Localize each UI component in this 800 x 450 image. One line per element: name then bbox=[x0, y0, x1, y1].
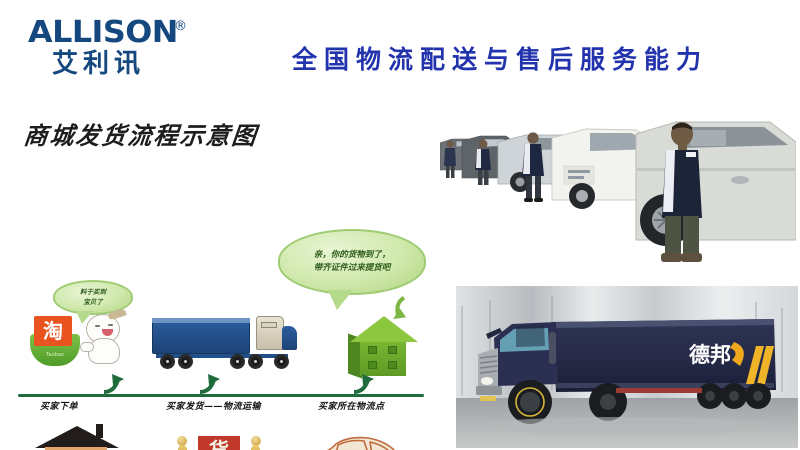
basket-brand-label: Taobao bbox=[40, 352, 70, 358]
truck-trailer bbox=[152, 318, 250, 354]
service-vehicle-fleet-photo bbox=[440, 108, 796, 268]
mascot-eye bbox=[95, 325, 100, 327]
truck-wheel bbox=[248, 354, 263, 369]
flow-arrow-icon bbox=[198, 372, 224, 394]
logo-chinese-name: 艾利讯 bbox=[52, 51, 208, 78]
logistics-depot-icon bbox=[348, 316, 420, 380]
deppon-logistics-truck-photo: 德邦 bbox=[456, 286, 798, 448]
mascot-body bbox=[88, 338, 120, 364]
fleet-photo-graphic bbox=[440, 108, 796, 268]
shipping-flow-diagram: 商城发货流程示意图 亲，你的货物到了， 带齐证件过来提货吧 料于买到 宝贝了 淘… bbox=[6, 104, 436, 422]
semi-truck-icon bbox=[152, 314, 300, 374]
flow-step-label: 买家发货——物流运输 bbox=[166, 399, 261, 412]
flow-step-label: 买家所在物流点 bbox=[318, 399, 385, 412]
truck-wheel bbox=[274, 354, 289, 369]
porter-figure bbox=[174, 436, 196, 450]
buyer-mascot-icon bbox=[80, 312, 130, 370]
deppon-brand-text: 德邦 bbox=[689, 343, 731, 367]
truck-trailer-roof bbox=[152, 318, 250, 323]
slide-canvas: ALLISON ® 艾利讯 全国物流配送与售后服务能力 商城发货流程示意图 亲，… bbox=[0, 0, 800, 450]
logo-wordmark: ALLISON bbox=[28, 18, 178, 48]
depot-window bbox=[388, 346, 397, 354]
flow-arrow-icon bbox=[352, 372, 378, 394]
taobao-card-icon: 淘 bbox=[34, 316, 72, 346]
buyer-home-icon bbox=[38, 426, 116, 450]
depot-window bbox=[388, 361, 397, 369]
buyer-car-sketch-icon bbox=[302, 428, 406, 450]
speech-bubble-tail-icon bbox=[328, 290, 353, 310]
depot-front-wall bbox=[360, 340, 406, 376]
depot-window bbox=[368, 346, 377, 354]
page-title: 全国物流配送与售后服务能力 bbox=[240, 40, 760, 76]
shopping-basket-icon: 淘 Taobao bbox=[28, 312, 84, 368]
home-roof bbox=[35, 426, 119, 448]
arrival-speech-bubble: 亲，你的货物到了， 带齐证件过来提货吧 bbox=[278, 229, 426, 295]
arrival-speech-text: 亲，你的货物到了， 带齐证件过来提货吧 bbox=[314, 249, 391, 275]
cargo-carriers-icon: 货 bbox=[174, 428, 266, 450]
truck-wheel bbox=[178, 354, 193, 369]
porter-body bbox=[251, 445, 260, 450]
depot-roof bbox=[350, 316, 418, 342]
porter-body bbox=[178, 445, 187, 450]
truck-nose bbox=[282, 326, 297, 350]
flow-diagram-title: 商城发货流程示意图 bbox=[22, 116, 260, 151]
truck-wheel bbox=[160, 354, 175, 369]
depot-window bbox=[368, 361, 377, 369]
mascot-eye bbox=[108, 324, 113, 326]
mascot-arm bbox=[80, 342, 94, 352]
flow-rail-row1 bbox=[18, 394, 424, 397]
truck-cabin-window bbox=[261, 322, 277, 328]
slide-header: ALLISON ® 艾利讯 全国物流配送与售后服务能力 bbox=[0, 0, 800, 100]
flow-step-label: 买家下单 bbox=[40, 399, 78, 412]
truck-wheel bbox=[230, 354, 245, 369]
company-logo: ALLISON ® 艾利讯 bbox=[28, 18, 208, 78]
cargo-crate-label: 货 bbox=[196, 434, 242, 450]
flow-arrow-icon bbox=[102, 372, 128, 394]
truck-chassis bbox=[156, 354, 288, 358]
truck-photo-graphic: 德邦 bbox=[456, 286, 798, 448]
porter-figure bbox=[244, 436, 266, 450]
buyer-speech-text: 料于买到 宝贝了 bbox=[80, 288, 106, 308]
registered-trademark-icon: ® bbox=[174, 19, 187, 34]
